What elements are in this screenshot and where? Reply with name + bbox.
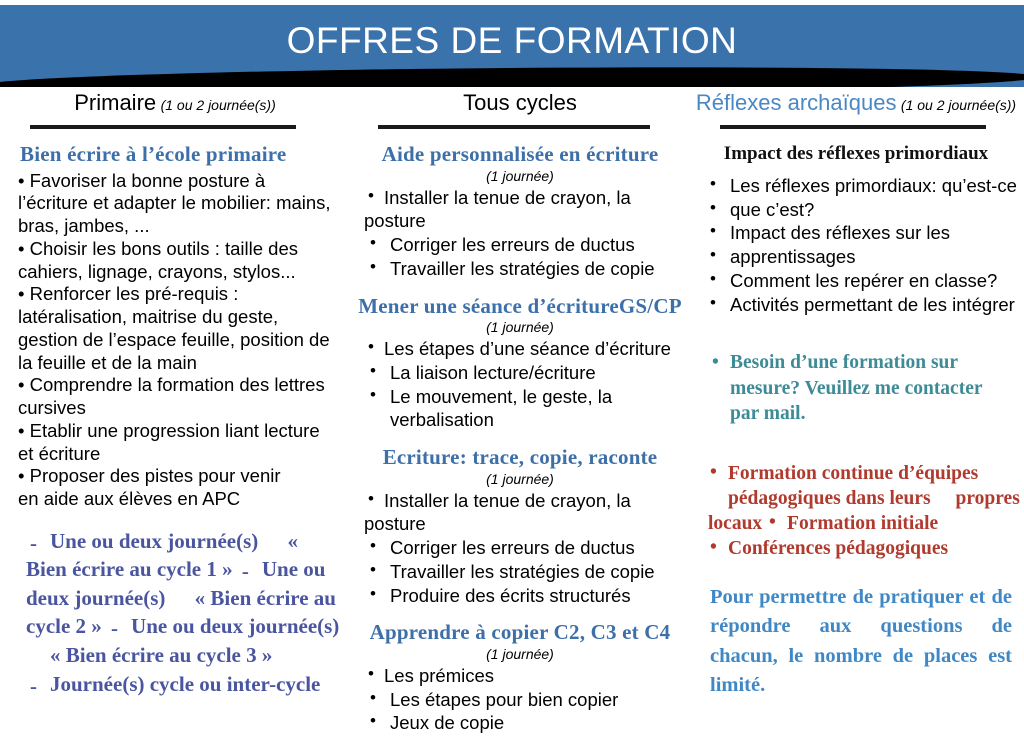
bullet-list-mener-seance: Les étapes d’une séance d’écriture La li… [346,338,694,432]
list-item: Conférences pédagogiques [708,538,948,559]
list-item: bras, jambes, ... [18,215,340,238]
list-item: • Proposer des pistes pour venir [18,465,340,488]
bullet-list-aide-personnalisee: Installer la tenue de crayon, la posture… [346,187,694,281]
section-duration: (1 journée) [346,646,694,662]
list-item: l’écriture et adapter le mobilier: mains… [18,192,340,215]
column-duration-reflexes: (1 ou 2 journée(s)) [901,97,1016,113]
section-bien-ecrire-ecole-primaire: Bien écrire à l’école primaire • Favoris… [6,143,344,511]
section-duration: (1 journée) [346,471,694,487]
contact-note: Besoin d’une formation sur mesure? Veuil… [688,350,1024,426]
list-item: Formation initiale [767,513,938,534]
section-title: Apprendre à copier C2, C3 et C4 [346,621,694,645]
section-title: Aide personnalisée en écriture [346,143,694,167]
list-item: Formation continue d’équipes [708,463,978,484]
section-duration: (1 journée) [346,319,694,335]
list-item: Produire des écrits structurés [364,585,694,608]
list-item: • Etablir une progression liant lecture [18,420,340,443]
list-item: Besoin d’une formation sur [708,352,958,373]
section-mener-seance-ecriture: Mener une séance d’écritureGS/CP (1 jour… [346,295,694,433]
list-item: • Renforcer les pré-requis : [18,283,340,306]
list-item: mesure? Veuillez me contacter [708,378,982,399]
list-item: Impact des réflexes sur les [702,222,1024,245]
list-item: posture [364,210,694,233]
page-banner: OFFRES DE FORMATION [0,5,1024,87]
list-item: Corriger les erreurs de ductus [364,234,694,257]
list-item: • Favoriser la bonne posture à [18,170,340,193]
column-tous-cycles: Tous cycles Aide personnalisée en écritu… [346,90,694,736]
list-item: Jeux de copie [364,712,694,735]
list-item: • Choisir les bons outils : taille des [18,238,340,261]
list-item: latéralisation, maitrise du geste, [18,306,340,329]
list-item: Les étapes d’une séance d’écriture [364,338,694,361]
section-title-bien-ecrire: Bien écrire à l’école primaire [6,143,344,167]
list-item: apprentissages [702,246,1024,269]
section-duration: (1 journée) [346,168,694,184]
bullet-list-primaire: • Favoriser la bonne posture à l’écritur… [6,170,344,511]
list-item: La liaison lecture/écriture [364,362,694,385]
bullet-list-ecriture-trace: Installer la tenue de crayon, la posture… [346,490,694,608]
list-item: Une ou deux journée(s) [26,529,258,553]
list-item: « Bien écrire au cycle 3 » [26,643,272,667]
list-item: Les réflexes primordiaux: qu’est-ce [702,175,1024,198]
page-title: OFFRES DE FORMATION [0,21,1024,62]
list-item: Les prémices [364,665,694,688]
section-title: Mener une séance d’écritureGS/CP [346,295,694,319]
closing-paragraph: Pour permettre de pratiquer et de répond… [688,583,1024,699]
section-ecriture-trace-copie-raconte: Ecriture: trace, copie, raconte (1 journ… [346,446,694,607]
banner-brushstroke-icon [0,64,1024,87]
section-title: Ecriture: trace, copie, raconte [346,446,694,470]
list-item: cursives [18,397,340,420]
list-item: Comment les repérer en classe? [702,270,1024,293]
column-primaire: Primaire (1 ou 2 journée(s)) Bien écrire… [6,90,344,698]
list-item: Les étapes pour bien copier [364,689,694,712]
column-header-primaire: Primaire (1 ou 2 journée(s)) [6,90,344,116]
header-divider-right [720,125,986,129]
list-item: Une ou deux journée(s) [107,614,339,638]
list-item: par mail. [708,403,805,424]
list-item: et écriture [18,443,340,466]
section-aide-personnalisee: Aide personnalisée en écriture (1 journé… [346,143,694,281]
column-title-reflexes: Réflexes archaïques [696,90,897,115]
section-impact-reflexes-primordiaux: Impact des réflexes primordiaux Les réfl… [688,143,1024,316]
column-header-tous-cycles: Tous cycles [346,90,694,116]
column-duration-primaire: (1 ou 2 journée(s)) [161,97,276,113]
section-title-impact-reflexes: Impact des réflexes primordiaux [688,143,1024,165]
list-item: Installer la tenue de crayon, la [364,187,694,210]
list-item: gestion de l’espace feuille, position de [18,329,340,352]
list-item: cahiers, lignage, crayons, stylos... [18,261,340,284]
section-apprendre-a-copier: Apprendre à copier C2, C3 et C4 (1 journ… [346,621,694,735]
list-item: la feuille et de la main [18,352,340,375]
list-item: en aide aux élèves en APC [18,488,340,511]
list-item: • Comprendre la formation des lettres [18,374,340,397]
column-title-tous-cycles: Tous cycles [463,90,577,115]
column-reflexes-archaiques: Réflexes archaïques (1 ou 2 journée(s)) … [688,90,1024,700]
list-item: que c’est? [702,199,1024,222]
bullet-list-reflexes: Les réflexes primordiaux: qu’est-ce que … [688,175,1024,317]
list-item: Corriger les erreurs de ductus [364,537,694,560]
offer-list-formation-continue: Formation continue d’équipes pédagogique… [688,462,1024,561]
content-columns: Primaire (1 ou 2 journée(s)) Bien écrire… [0,90,1024,725]
list-item: Installer la tenue de crayon, la [364,490,694,513]
list-item: verbalisation [364,409,694,432]
list-item: pédagogiques dans leurs [708,488,931,509]
offer-list-primaire: Une ou deux journée(s) « Bien écrire au … [6,527,344,698]
list-item: Travailler les stratégies de copie [364,258,694,281]
list-item: posture [364,513,694,536]
list-item: Travailler les stratégies de copie [364,561,694,584]
header-divider-left [30,125,296,129]
list-item: Journée(s) cycle ou inter-cycle [26,672,320,696]
column-title-primaire: Primaire [74,90,156,115]
header-divider-middle [378,125,650,129]
list-item: Activités permettant de les intégrer [702,294,1024,317]
column-header-reflexes: Réflexes archaïques (1 ou 2 journée(s)) [688,90,1024,116]
list-item: Le mouvement, le geste, la [364,386,694,409]
